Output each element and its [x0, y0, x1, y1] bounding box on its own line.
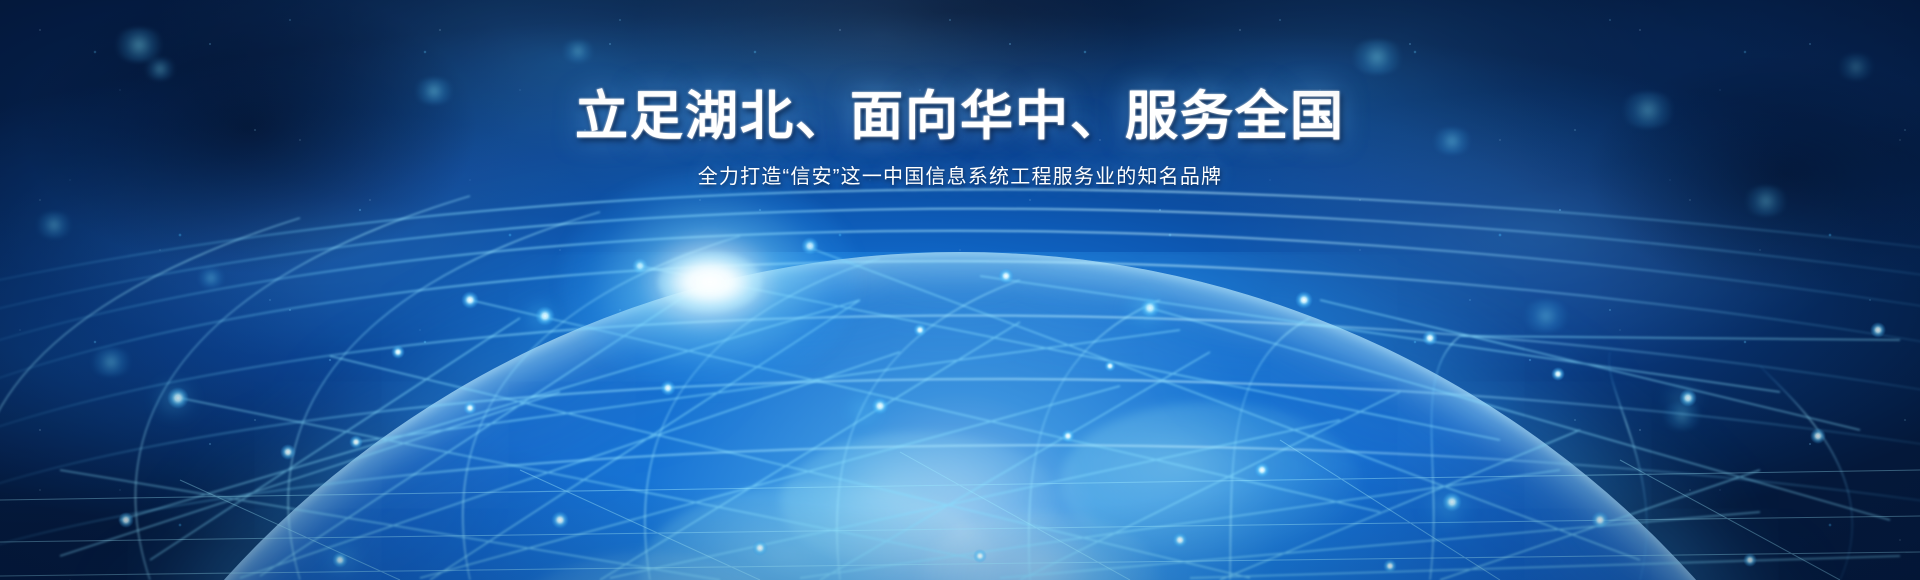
longitude-arc-group — [0, 196, 1852, 580]
hero-banner: 立足湖北、面向华中、服务全国 全力打造“信安”这一中国信息系统工程服务业的知名品… — [0, 0, 1920, 580]
chord-line-group — [60, 248, 1900, 580]
banner-headline: 立足湖北、面向华中、服务全国 — [0, 0, 1920, 149]
banner-copy: 立足湖北、面向华中、服务全国 全力打造“信安”这一中国信息系统工程服务业的知名品… — [0, 0, 1920, 191]
banner-subheadline: 全力打造“信安”这一中国信息系统工程服务业的知名品牌 — [0, 163, 1920, 191]
